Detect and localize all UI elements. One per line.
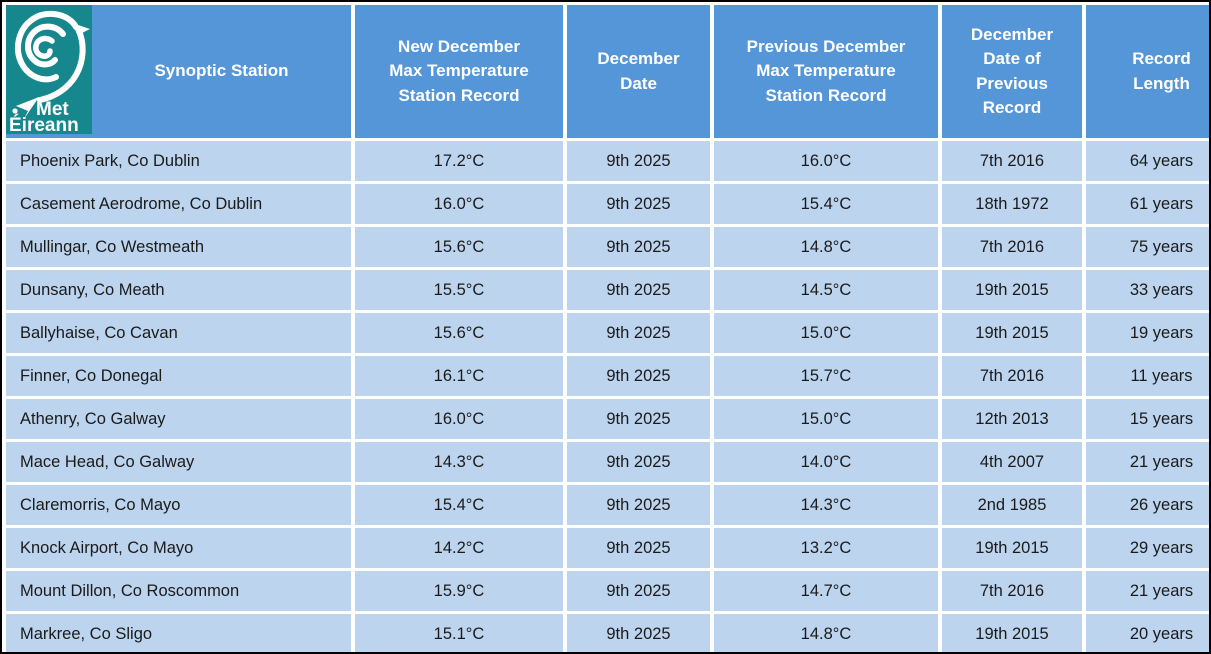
cell-record-length: 21 years <box>1086 442 1211 482</box>
cell-previous-record: 15.7°C <box>714 356 938 396</box>
header-row: Met Éireann Synoptic Station New Decembe… <box>6 5 1211 138</box>
table-header: Met Éireann Synoptic Station New Decembe… <box>6 5 1211 138</box>
logo-line2: Éireann <box>9 114 79 134</box>
header-label-previous-date-line4: Record <box>983 98 1042 117</box>
cell-previous-record: 15.4°C <box>714 184 938 224</box>
cell-previous-date: 19th 2015 <box>942 528 1082 568</box>
records-table-container: Met Éireann Synoptic Station New Decembe… <box>0 0 1211 654</box>
cell-new-record: 14.2°C <box>355 528 563 568</box>
logo-and-title-wrap: Met Éireann Synoptic Station <box>6 5 351 138</box>
cell-previous-date: 7th 2016 <box>942 227 1082 267</box>
cell-station: Knock Airport, Co Mayo <box>6 528 351 568</box>
header-label-previous-date-line1: December <box>971 25 1053 44</box>
cell-station: Casement Aerodrome, Co Dublin <box>6 184 351 224</box>
cell-station: Dunsany, Co Meath <box>6 270 351 310</box>
header-cell-previous-record: Previous December Max Temperature Statio… <box>714 5 938 138</box>
cell-previous-record: 14.3°C <box>714 485 938 525</box>
header-cell-new-date: December Date <box>567 5 710 138</box>
cell-previous-record: 14.7°C <box>714 571 938 611</box>
table-row: Mount Dillon, Co Roscommon15.9°C9th 2025… <box>6 571 1211 611</box>
cell-station: Mount Dillon, Co Roscommon <box>6 571 351 611</box>
cell-record-length: 26 years <box>1086 485 1211 525</box>
header-cell-station: Met Éireann Synoptic Station <box>6 5 351 138</box>
header-label-previous-date-line3: Previous <box>976 74 1048 93</box>
cell-new-date: 9th 2025 <box>567 184 710 224</box>
cell-previous-record: 14.8°C <box>714 227 938 267</box>
cell-new-record: 17.2°C <box>355 141 563 181</box>
header-cell-previous-date: December Date of Previous Record <box>942 5 1082 138</box>
table-row: Mullingar, Co Westmeath15.6°C9th 202514.… <box>6 227 1211 267</box>
cell-new-date: 9th 2025 <box>567 528 710 568</box>
cell-station: Mace Head, Co Galway <box>6 442 351 482</box>
cell-new-record: 16.0°C <box>355 399 563 439</box>
cell-record-length: 11 years <box>1086 356 1211 396</box>
cell-station: Markree, Co Sligo <box>6 614 351 654</box>
cell-previous-record: 15.0°C <box>714 399 938 439</box>
table-row: Dunsany, Co Meath15.5°C9th 202514.5°C19t… <box>6 270 1211 310</box>
cell-new-date: 9th 2025 <box>567 227 710 267</box>
cell-record-length: 15 years <box>1086 399 1211 439</box>
header-label-previous-record-line3: Station Record <box>766 86 887 105</box>
table-row: Markree, Co Sligo15.1°C9th 202514.8°C19t… <box>6 614 1211 654</box>
cell-station: Ballyhaise, Co Cavan <box>6 313 351 353</box>
cell-new-record: 15.1°C <box>355 614 563 654</box>
cell-previous-record: 14.8°C <box>714 614 938 654</box>
table-row: Finner, Co Donegal16.1°C9th 202515.7°C7t… <box>6 356 1211 396</box>
cell-new-date: 9th 2025 <box>567 485 710 525</box>
cell-record-length: 29 years <box>1086 528 1211 568</box>
cell-previous-date: 7th 2016 <box>942 356 1082 396</box>
header-label-previous-record-line2: Max Temperature <box>756 61 896 80</box>
header-label-previous-date-line2: Date of <box>983 49 1041 68</box>
cell-previous-record: 16.0°C <box>714 141 938 181</box>
cell-new-date: 9th 2025 <box>567 356 710 396</box>
header-cell-new-record: New December Max Temperature Station Rec… <box>355 5 563 138</box>
cell-previous-date: 19th 2015 <box>942 313 1082 353</box>
table-row: Phoenix Park, Co Dublin17.2°C9th 202516.… <box>6 141 1211 181</box>
cell-previous-date: 4th 2007 <box>942 442 1082 482</box>
table-row: Ballyhaise, Co Cavan15.6°C9th 202515.0°C… <box>6 313 1211 353</box>
cell-station: Finner, Co Donegal <box>6 356 351 396</box>
header-label-station: Synoptic Station <box>92 59 351 83</box>
cell-new-record: 15.6°C <box>355 227 563 267</box>
cell-previous-date: 7th 2016 <box>942 571 1082 611</box>
cell-record-length: 19 years <box>1086 313 1211 353</box>
december-max-temperature-records-table: Met Éireann Synoptic Station New Decembe… <box>2 2 1211 654</box>
cell-new-date: 9th 2025 <box>567 614 710 654</box>
cell-new-date: 9th 2025 <box>567 270 710 310</box>
cell-new-date: 9th 2025 <box>567 442 710 482</box>
cell-new-date: 9th 2025 <box>567 313 710 353</box>
cell-record-length: 33 years <box>1086 270 1211 310</box>
header-label-new-record-line1: New December <box>398 37 520 56</box>
cell-new-record: 15.6°C <box>355 313 563 353</box>
cell-station: Phoenix Park, Co Dublin <box>6 141 351 181</box>
met-eireann-logo: Met Éireann <box>6 5 92 134</box>
table-row: Claremorris, Co Mayo15.4°C9th 202514.3°C… <box>6 485 1211 525</box>
cell-previous-date: 19th 2015 <box>942 614 1082 654</box>
cell-new-record: 15.9°C <box>355 571 563 611</box>
header-cell-record-length: Record Length <box>1086 5 1211 138</box>
cell-record-length: 21 years <box>1086 571 1211 611</box>
header-label-record-length-line1: Record <box>1132 49 1191 68</box>
cell-previous-record: 14.0°C <box>714 442 938 482</box>
cell-station: Claremorris, Co Mayo <box>6 485 351 525</box>
cell-previous-date: 19th 2015 <box>942 270 1082 310</box>
cell-new-record: 14.3°C <box>355 442 563 482</box>
cell-new-record: 16.1°C <box>355 356 563 396</box>
cell-record-length: 75 years <box>1086 227 1211 267</box>
cell-station: Athenry, Co Galway <box>6 399 351 439</box>
cell-new-record: 16.0°C <box>355 184 563 224</box>
cell-new-date: 9th 2025 <box>567 571 710 611</box>
cell-previous-date: 12th 2013 <box>942 399 1082 439</box>
cell-previous-record: 13.2°C <box>714 528 938 568</box>
met-eireann-spiral-logo-icon: Met Éireann <box>6 5 92 134</box>
table-body: Phoenix Park, Co Dublin17.2°C9th 202516.… <box>6 141 1211 654</box>
cell-previous-record: 14.5°C <box>714 270 938 310</box>
cell-previous-record: 15.0°C <box>714 313 938 353</box>
table-row: Mace Head, Co Galway14.3°C9th 202514.0°C… <box>6 442 1211 482</box>
cell-record-length: 64 years <box>1086 141 1211 181</box>
cell-previous-date: 18th 1972 <box>942 184 1082 224</box>
table-row: Casement Aerodrome, Co Dublin16.0°C9th 2… <box>6 184 1211 224</box>
table-row: Knock Airport, Co Mayo14.2°C9th 202513.2… <box>6 528 1211 568</box>
cell-record-length: 20 years <box>1086 614 1211 654</box>
header-label-new-record-line3: Station Record <box>399 86 520 105</box>
header-label-new-record-line2: Max Temperature <box>389 61 529 80</box>
cell-previous-date: 2nd 1985 <box>942 485 1082 525</box>
header-label-previous-record-line1: Previous December <box>747 37 906 56</box>
cell-station: Mullingar, Co Westmeath <box>6 227 351 267</box>
header-label-record-length-line2: Length <box>1133 74 1190 93</box>
header-label-new-date-line2: Date <box>620 74 657 93</box>
cell-new-date: 9th 2025 <box>567 141 710 181</box>
header-label-new-date-line1: December <box>597 49 679 68</box>
cell-previous-date: 7th 2016 <box>942 141 1082 181</box>
table-row: Athenry, Co Galway16.0°C9th 202515.0°C12… <box>6 399 1211 439</box>
cell-new-record: 15.4°C <box>355 485 563 525</box>
cell-record-length: 61 years <box>1086 184 1211 224</box>
cell-new-record: 15.5°C <box>355 270 563 310</box>
cell-new-date: 9th 2025 <box>567 399 710 439</box>
